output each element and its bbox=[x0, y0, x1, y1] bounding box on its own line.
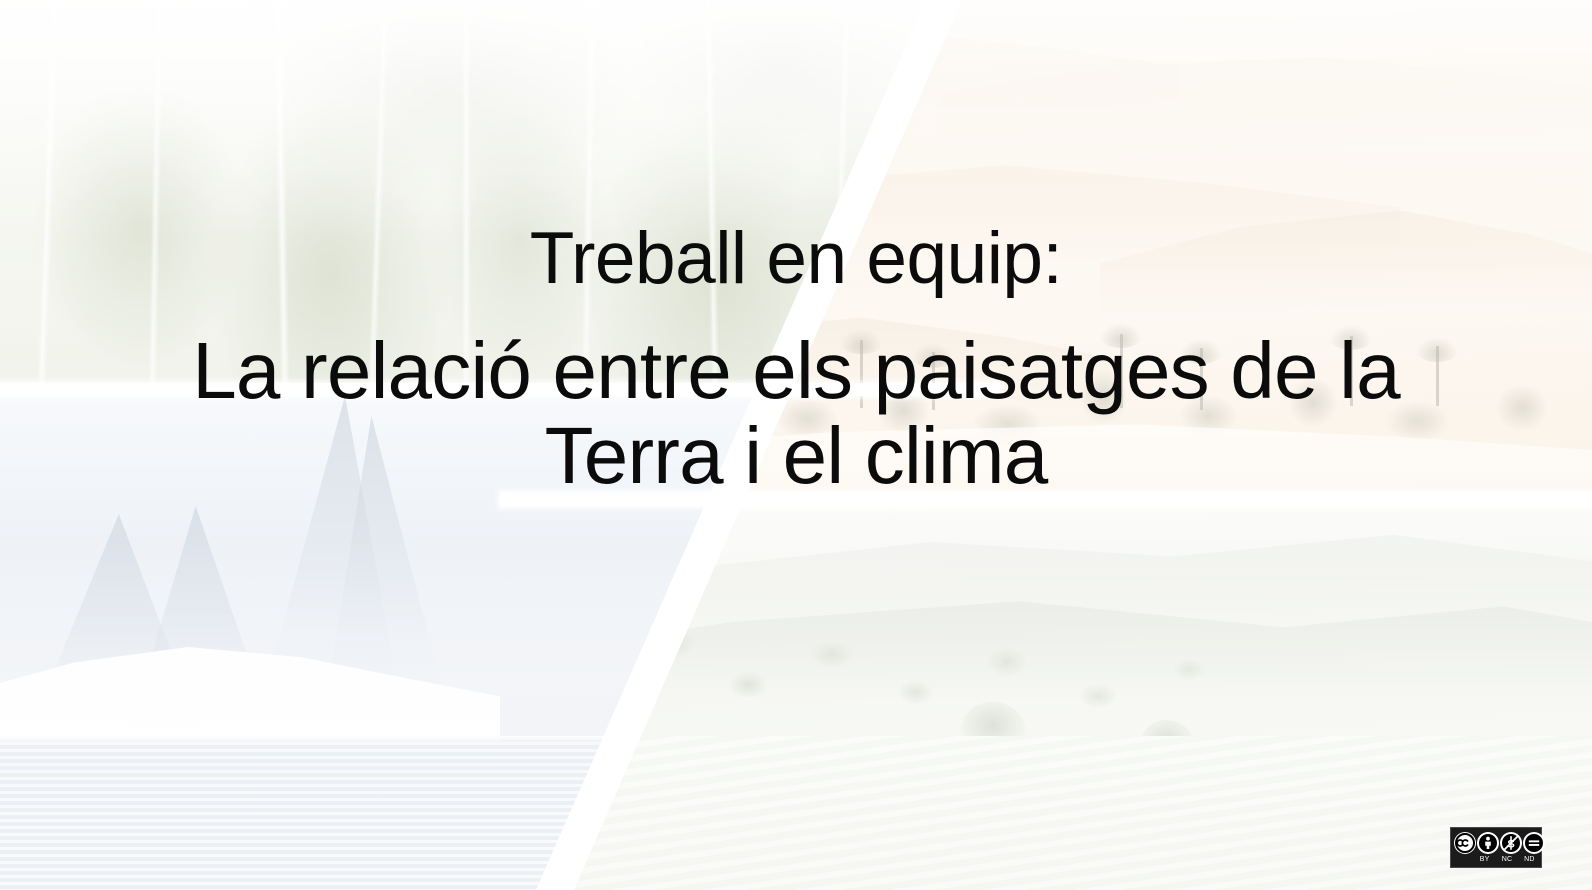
cc-circle-icon bbox=[1454, 832, 1476, 854]
palm-trunk bbox=[1350, 336, 1353, 406]
palm-trunk bbox=[932, 352, 935, 410]
nd-equals-icon bbox=[1523, 832, 1545, 854]
palm-trunk bbox=[860, 340, 863, 408]
cc-term-nc: NC bbox=[1498, 855, 1515, 866]
palm-frond bbox=[1415, 336, 1459, 362]
cc-term-by: BY bbox=[1476, 855, 1493, 866]
cc-term-labels: BY NC ND bbox=[1454, 855, 1538, 866]
palm-frond bbox=[1099, 322, 1143, 348]
nc-crossed-dollar-icon: S bbox=[1500, 832, 1522, 854]
cc-icon-row: S bbox=[1454, 830, 1538, 855]
cc-term-nd: ND bbox=[1521, 855, 1538, 866]
open-field bbox=[490, 736, 1592, 890]
sand-dune bbox=[1100, 196, 1592, 316]
horizontal-divider-left bbox=[0, 383, 1000, 396]
slide-canvas: Treball en equip: La relació entre els p… bbox=[0, 0, 1592, 890]
palm-trunk bbox=[1120, 334, 1123, 408]
savanna-tree bbox=[960, 702, 1026, 754]
background-imagery bbox=[0, 0, 1592, 890]
cc-license-badge[interactable]: S BY NC ND bbox=[1450, 827, 1542, 868]
by-person-icon bbox=[1477, 832, 1499, 854]
palm-trunk bbox=[1436, 346, 1439, 406]
palm-frond bbox=[839, 328, 883, 354]
palm-frond bbox=[911, 342, 955, 368]
horizontal-divider-right bbox=[500, 492, 1592, 507]
savanna-tree bbox=[1140, 720, 1194, 764]
sand-dune bbox=[940, 48, 1592, 140]
palm-frond bbox=[1179, 338, 1223, 364]
palm-trunk bbox=[1200, 348, 1203, 410]
palm-frond bbox=[1329, 324, 1373, 350]
